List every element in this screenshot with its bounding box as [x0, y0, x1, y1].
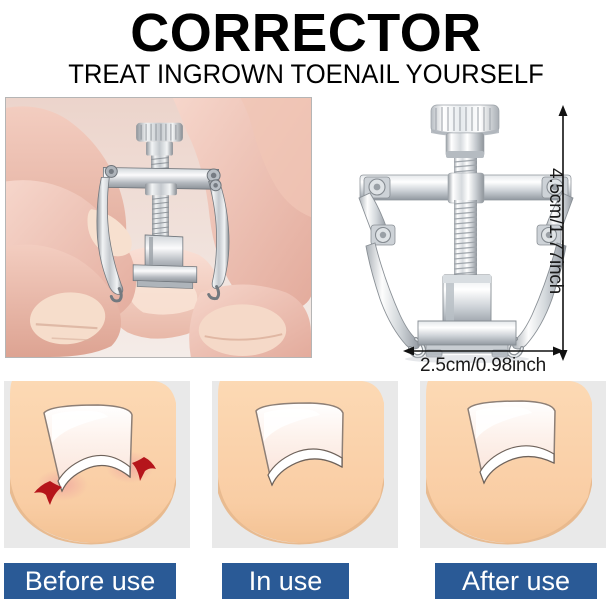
toe-illustration-corrected	[420, 381, 606, 548]
product-usage-photo	[5, 97, 312, 358]
usage-photo-illustration	[6, 98, 311, 357]
step-illustration-in-use	[212, 381, 398, 548]
dimension-width-label: 2.5cm/0.98inch	[403, 355, 563, 377]
dimension-height-label: 4.5cm/1.77inch	[544, 168, 566, 294]
step-illustration-after-use	[420, 381, 606, 548]
caption-in-use: In use	[222, 563, 349, 599]
caption-after-use: After use	[435, 563, 597, 599]
step-illustration-before-use	[4, 381, 190, 548]
caption-before-use: Before use	[4, 563, 176, 599]
toe-illustration-correcting	[212, 381, 398, 548]
product-diagram-illustration	[330, 97, 612, 377]
product-dimension-diagram	[330, 97, 612, 377]
page-title: CORRECTOR	[0, 3, 612, 63]
page-subtitle: TREAT INGROWN TOENAIL YOURSELF	[15, 58, 596, 90]
toe-illustration-ingrown	[4, 381, 190, 548]
header: CORRECTOR TREAT INGROWN TOENAIL YOURSELF	[0, 0, 612, 92]
